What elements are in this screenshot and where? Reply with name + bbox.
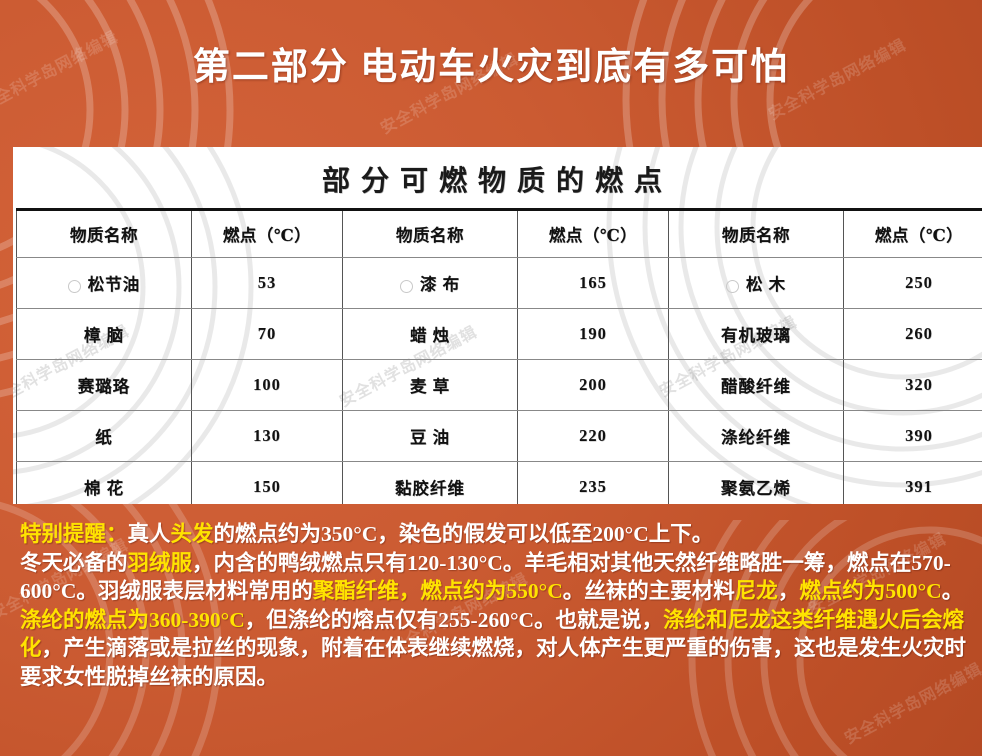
cell-substance: 樟 脑: [17, 309, 192, 360]
cell-substance: 麦 草: [343, 360, 518, 411]
table-caption: 部分可燃物质的燃点: [13, 147, 982, 205]
cell-substance: 漆 布: [343, 258, 518, 309]
note-text: ，产生滴落或是拉丝的现象，附着在体表继续燃烧，对人体产生更严重的伤害，这也是发生…: [20, 636, 966, 689]
cell-temperature: 150: [192, 462, 343, 505]
bullet-icon: [726, 280, 739, 293]
cell-temperature: 53: [192, 258, 343, 309]
cell-substance: 松节油: [17, 258, 192, 309]
column-header-temp-1: 燃点（℃）: [192, 210, 343, 258]
cell-temperature: 235: [518, 462, 669, 505]
cell-temperature: 200: [518, 360, 669, 411]
cell-temperature: 260: [844, 309, 982, 360]
cell-temperature: 390: [844, 411, 982, 462]
cell-substance: 蜡 烛: [343, 309, 518, 360]
cell-temperature: 220: [518, 411, 669, 462]
cell-substance: 有机玻璃: [669, 309, 844, 360]
slide-title: 第二部分 电动车火灾到底有多可怕: [0, 36, 982, 90]
slide-title-text: 第二部分 电动车火灾到底有多可怕: [193, 47, 789, 88]
cell-substance: 赛璐珞: [17, 360, 192, 411]
table-row: 樟 脑 70 蜡 烛 190 有机玻璃 260: [17, 309, 982, 360]
note-highlight-text: 燃点约为500°C: [799, 579, 941, 603]
cell-temperature: 130: [192, 411, 343, 462]
cell-temperature: 165: [518, 258, 669, 309]
note-text: 冬天必备的: [20, 551, 128, 575]
note-highlight-text: 尼龙: [735, 579, 778, 603]
note-text: 的燃点约为350°C，染色的假发可以低至200°C上下。: [214, 522, 714, 546]
table-row: 棉 花 150 黏胶纤维 235 聚氨乙烯 391: [17, 462, 982, 505]
cell-temperature: 320: [844, 360, 982, 411]
table-panel: 安全科学岛网络编辑 安全科学岛网络编辑 安全科学岛网络编辑 部分可燃物质的燃点 …: [13, 147, 982, 504]
note-highlight-text: 聚酯纤维，燃点约为550°C: [313, 579, 563, 603]
column-header-substance-1: 物质名称: [17, 210, 192, 258]
cell-substance: 醋酸纤维: [669, 360, 844, 411]
column-header-substance-3: 物质名称: [669, 210, 844, 258]
table-row: 松节油 53 漆 布 165 松 木 250: [17, 258, 982, 309]
note-text: 。: [942, 579, 964, 603]
flash-point-table: 物质名称 燃点（℃） 物质名称 燃点（℃） 物质名称 燃点（℃） 松节油 53 …: [16, 208, 982, 504]
cell-substance: 涤纶纤维: [669, 411, 844, 462]
note-highlight-text: 羽绒服: [128, 551, 193, 575]
note-text: ，: [778, 579, 800, 603]
cell-temperature: 391: [844, 462, 982, 505]
table-body: 物质名称 燃点（℃） 物质名称 燃点（℃） 物质名称 燃点（℃） 松节油 53 …: [17, 210, 982, 505]
cell-temperature: 70: [192, 309, 343, 360]
column-header-temp-3: 燃点（℃）: [844, 210, 982, 258]
cell-temperature: 190: [518, 309, 669, 360]
cell-substance: 聚氨乙烯: [669, 462, 844, 505]
slide-canvas: 安全科学岛网络编辑 安全科学岛网络编辑 安全科学岛网络编辑 安全科学岛网络编辑 …: [0, 0, 982, 756]
cell-temperature: 250: [844, 258, 982, 309]
note-text: 。丝袜的主要材料: [563, 579, 735, 603]
table-row: 纸 130 豆 油 220 涤纶纤维 390: [17, 411, 982, 462]
note-highlight-text: 涤纶的燃点为360-390°C: [20, 608, 245, 632]
bullet-icon: [400, 280, 413, 293]
note-highlight-text: 头发: [171, 522, 214, 546]
special-reminder-note: 特别提醒：真人头发的燃点约为350°C，染色的假发可以低至200°C上下。冬天必…: [20, 520, 970, 691]
cell-text: 漆 布: [420, 275, 460, 294]
table-row: 赛璐珞 100 麦 草 200 醋酸纤维 320: [17, 360, 982, 411]
cell-text: 松节油: [88, 275, 141, 294]
note-text: 真人: [128, 522, 171, 546]
column-header-substance-2: 物质名称: [343, 210, 518, 258]
note-text: ，但涤纶的熔点仅有255-260°C。也就是说，: [245, 608, 663, 632]
table-header-row: 物质名称 燃点（℃） 物质名称 燃点（℃） 物质名称 燃点（℃）: [17, 210, 982, 258]
cell-substance: 棉 花: [17, 462, 192, 505]
cell-text: 松 木: [746, 275, 786, 294]
cell-substance: 豆 油: [343, 411, 518, 462]
cell-substance: 纸: [17, 411, 192, 462]
note-highlight-text: 特别提醒：: [20, 522, 128, 546]
cell-temperature: 100: [192, 360, 343, 411]
bullet-icon: [68, 280, 81, 293]
cell-substance: 黏胶纤维: [343, 462, 518, 505]
column-header-temp-2: 燃点（℃）: [518, 210, 669, 258]
cell-substance: 松 木: [669, 258, 844, 309]
